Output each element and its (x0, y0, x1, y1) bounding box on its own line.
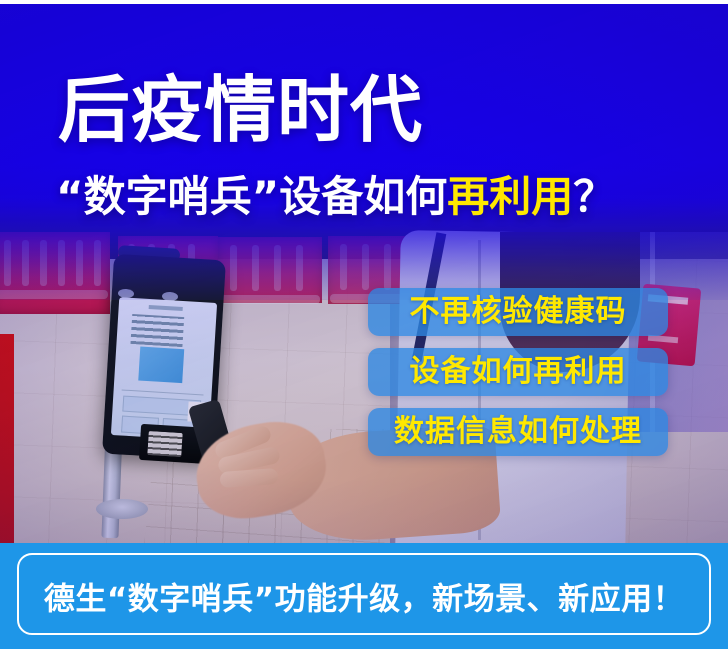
topic-pill-device-reuse[interactable]: 设备如何再利用 (368, 348, 668, 396)
pill-label: 数据信息如何处理 (394, 417, 642, 447)
kiosk-pole-base (96, 499, 148, 519)
bottom-banner: 德生“数字哨兵”功能升级，新场景、新应用！ (0, 543, 728, 649)
red-edge-strip (0, 334, 14, 543)
headline-block: 后疫情时代 “数字哨兵”设备如何再利用？ (0, 0, 728, 250)
subtitle-highlight: 再利用 (447, 172, 573, 221)
qr-code-icon (138, 347, 184, 384)
banner-text: 德生“数字哨兵”功能升级，新场景、新应用！ (0, 574, 728, 619)
subtitle-question-mark: ？ (573, 172, 615, 221)
poster-root: 后疫情时代 “数字哨兵”设备如何再利用？ 不再核验健康码 设备如何再利用 数据信… (0, 0, 728, 649)
page-title: 后疫情时代 (58, 74, 423, 146)
top-white-strip (0, 0, 728, 4)
topic-pill-health-code[interactable]: 不再核验健康码 (368, 288, 668, 336)
pill-label: 不再核验健康码 (410, 297, 627, 327)
kiosk-label-sticker (147, 431, 182, 457)
subtitle-part-one: “数字哨兵”设备如何 (56, 172, 447, 221)
pill-label: 设备如何再利用 (410, 357, 627, 387)
topic-pill-list: 不再核验健康码 设备如何再利用 数据信息如何处理 (368, 288, 668, 468)
page-subtitle: “数字哨兵”设备如何再利用？ (56, 176, 615, 218)
topic-pill-data-handling[interactable]: 数据信息如何处理 (368, 408, 668, 456)
